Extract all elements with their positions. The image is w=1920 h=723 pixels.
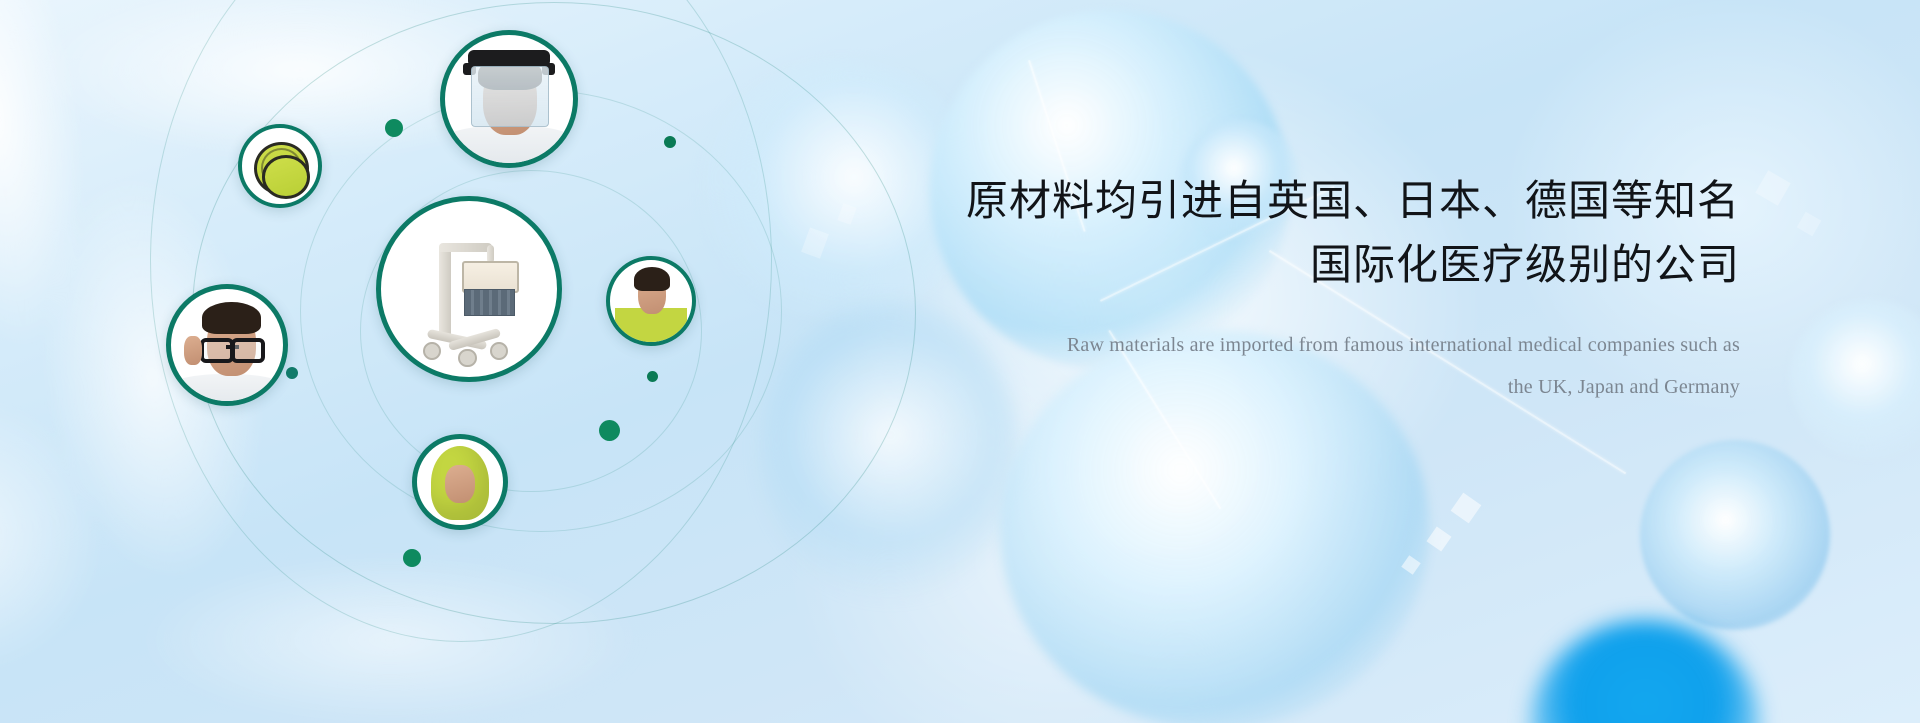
subtitle: Raw materials are imported from famous i… xyxy=(960,324,1740,408)
bubble-radiation-protective-hood[interactable] xyxy=(412,434,508,530)
molecule-blob-5 xyxy=(1790,300,1920,460)
speck-3 xyxy=(1401,555,1420,574)
bubble-lead-apron-cap[interactable] xyxy=(238,124,322,208)
accent-dot-1 xyxy=(385,119,403,137)
x-ray-face-shield-helmet-icon xyxy=(445,35,573,163)
cloud-haze-top xyxy=(0,0,760,220)
speck-6 xyxy=(1755,170,1791,206)
subtitle-line-2: the UK, Japan and Germany xyxy=(960,366,1740,408)
radiation-protective-hood-icon xyxy=(417,439,503,525)
accent-dot-6 xyxy=(403,549,421,567)
bubble-x-ray-face-shield-helmet[interactable] xyxy=(440,30,578,168)
lead-apron-cap-icon xyxy=(242,128,318,204)
molecule-blob-3 xyxy=(1640,440,1830,630)
accent-dot-2 xyxy=(664,136,676,148)
banner-copy: 原材料均引进自英国、日本、德国等知名 国际化医疗级别的公司 Raw materi… xyxy=(960,170,1740,408)
thyroid-collar-icon xyxy=(610,260,692,342)
headline-line-1: 原材料均引进自英国、日本、德国等知名 xyxy=(960,170,1740,232)
lead-glasses-icon xyxy=(171,289,283,401)
molecule-blob-4 xyxy=(1530,620,1760,723)
accent-dot-4 xyxy=(647,371,658,382)
bubble-lead-glasses[interactable] xyxy=(166,284,288,406)
speck-1 xyxy=(1451,493,1482,524)
bubble-thyroid-collar[interactable] xyxy=(606,256,696,346)
bubble-mobile-x-ray-barrier-stand[interactable] xyxy=(376,196,562,382)
accent-dot-3 xyxy=(286,367,298,379)
speck-4 xyxy=(801,227,829,258)
hero-banner: 原材料均引进自英国、日本、德国等知名 国际化医疗级别的公司 Raw materi… xyxy=(0,0,1920,723)
headline-line-2: 国际化医疗级别的公司 xyxy=(960,234,1740,296)
speck-7 xyxy=(1797,212,1822,237)
molecule-blob-6 xyxy=(700,60,980,320)
mobile-x-ray-barrier-stand-icon xyxy=(381,201,557,377)
subtitle-line-1: Raw materials are imported from famous i… xyxy=(960,324,1740,366)
accent-dot-5 xyxy=(599,420,620,441)
speck-5 xyxy=(837,203,856,225)
speck-2 xyxy=(1426,526,1451,551)
